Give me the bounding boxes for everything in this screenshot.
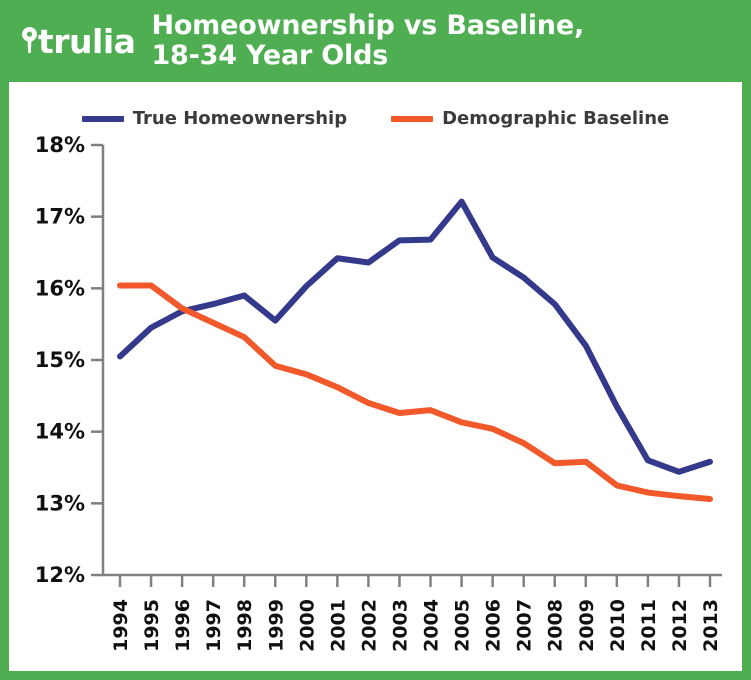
- trulia-chart-infographic: trulia Homeownership vs Baseline, 18-34 …: [0, 0, 751, 680]
- green-frame-border: [0, 0, 751, 680]
